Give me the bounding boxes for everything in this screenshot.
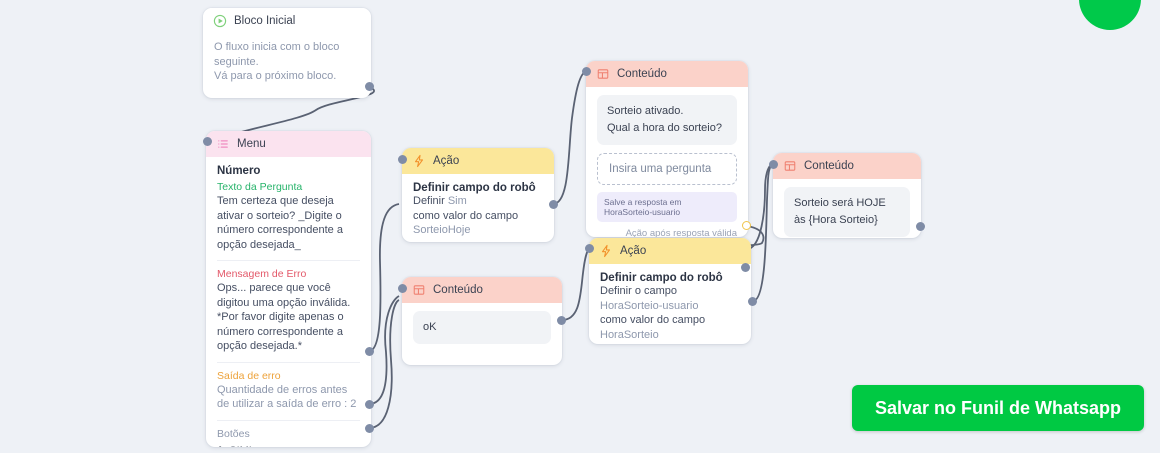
action-line-2: como valor do campo <box>413 209 543 224</box>
node-acao-top[interactable]: Ação Definir campo do robô Definir Sim c… <box>402 148 554 242</box>
layout-icon <box>783 159 797 173</box>
action-line-3-value: HoraSorteio <box>600 328 740 343</box>
node-conteudo-ok[interactable]: Conteúdo oK <box>402 277 562 365</box>
port-acao-bottom-out[interactable] <box>748 297 757 306</box>
action-heading: Definir campo do robô <box>413 182 543 194</box>
node-conteudo-resultado[interactable]: Conteúdo Sorteio será HOJE às {Hora Sort… <box>773 153 921 238</box>
node-title: Conteúdo <box>804 160 854 172</box>
lightning-icon <box>412 154 426 168</box>
port-menu-in[interactable] <box>203 137 212 146</box>
node-header[interactable]: Conteúdo <box>402 277 562 303</box>
node-header[interactable]: Ação <box>589 238 751 264</box>
node-title: Conteúdo <box>617 68 667 80</box>
port-conteudo-resultado-in[interactable] <box>769 160 778 169</box>
layout-icon <box>412 283 426 297</box>
error-text: Ops... parece que você digitou uma opção… <box>217 281 360 354</box>
layout-icon <box>596 67 610 81</box>
start-line-1: O fluxo inicia com o bloco seguinte. <box>214 40 360 69</box>
port-acao-bottom-in[interactable] <box>585 244 594 253</box>
port-conteudo-ok-in[interactable] <box>398 284 407 293</box>
message-bubble: Sorteio ativado. Qual a hora do sorteio? <box>597 95 737 145</box>
node-header[interactable]: Ação <box>402 148 554 174</box>
error-label: Mensagem de Erro <box>217 268 360 280</box>
question-text: Tem certeza que deseja ativar o sorteio?… <box>217 194 360 252</box>
play-circle-icon <box>213 14 227 28</box>
port-conteudo-pergunta-in[interactable] <box>582 67 591 76</box>
menu-list-icon <box>216 137 230 151</box>
question-label: Texto da Pergunta <box>217 181 360 193</box>
port-start-out[interactable] <box>365 82 374 91</box>
option-number: 1. <box>217 445 226 448</box>
flow-canvas[interactable]: Bloco Inicial O fluxo inicia com o bloco… <box>0 0 1160 453</box>
port-valid-answer-out[interactable] <box>742 221 751 230</box>
question-input[interactable]: Insira uma pergunta <box>597 153 737 185</box>
divider <box>217 260 360 261</box>
node-conteudo-pergunta[interactable]: Conteúdo Sorteio ativado. Qual a hora do… <box>586 61 748 237</box>
action-line-1-value: Sim <box>448 195 467 207</box>
node-header[interactable]: Conteúdo <box>773 153 921 179</box>
divider <box>217 362 360 363</box>
action-line-1: Definir o campo HoraSorteio-usuario <box>600 284 740 313</box>
action-line-1-value: HoraSorteio-usuario <box>600 300 698 312</box>
port-acao-bottom-side[interactable] <box>741 263 750 272</box>
node-menu[interactable]: Menu Número Texto da Pergunta Tem certez… <box>206 131 371 447</box>
action-line-1-prefix: Definir o campo <box>600 285 677 297</box>
start-line-2: Vá para o próximo bloco. <box>214 69 360 84</box>
message-bubble: Sorteio será HOJE às {Hora Sorteio} <box>784 187 910 237</box>
message-line-1: Sorteio ativado. <box>607 103 727 120</box>
action-line-1-prefix: Definir <box>413 195 448 207</box>
lightning-icon <box>599 244 613 258</box>
error-exit-text: Quantidade de erros antes de utilizar a … <box>217 383 360 412</box>
node-header[interactable]: Conteúdo <box>586 61 748 87</box>
floating-action-button[interactable] <box>1079 0 1141 30</box>
valid-answer-action-label: Ação após resposta válida <box>597 228 737 237</box>
action-line-3-value: SorteioHoje <box>413 223 543 238</box>
save-funnel-button[interactable]: Salvar no Funil de Whatsapp <box>852 385 1144 431</box>
error-exit-label: Saída de erro <box>217 370 360 382</box>
port-conteudo-resultado-out[interactable] <box>916 222 925 231</box>
divider <box>217 420 360 421</box>
action-line-1: Definir Sim <box>413 194 543 209</box>
buttons-label: Botões <box>217 428 360 440</box>
port-conteudo-ok-out[interactable] <box>557 316 566 325</box>
node-acao-bottom[interactable]: Ação Definir campo do robô Definir o cam… <box>589 238 751 344</box>
node-title: Bloco Inicial <box>234 15 295 27</box>
action-heading: Definir campo do robô <box>600 272 740 284</box>
port-acao-top-in[interactable] <box>398 155 407 164</box>
node-header[interactable]: Bloco Inicial <box>203 8 371 34</box>
port-acao-top-out[interactable] <box>549 200 558 209</box>
option-label: SIM! <box>229 445 252 448</box>
node-title: Conteúdo <box>433 284 483 296</box>
node-title: Ação <box>620 245 646 257</box>
message-bubble: oK <box>413 311 551 344</box>
node-bloco-inicial[interactable]: Bloco Inicial O fluxo inicia com o bloco… <box>203 8 371 98</box>
message-line-2: Qual a hora do sorteio? <box>607 120 727 137</box>
port-menu-option-1-out[interactable] <box>365 400 374 409</box>
save-answer-chip: Salve a resposta em HoraSorteio-usuario <box>597 192 737 222</box>
menu-field-name: Número <box>217 165 360 177</box>
node-title: Menu <box>237 138 266 150</box>
node-title: Ação <box>433 155 459 167</box>
node-header[interactable]: Menu <box>206 131 371 157</box>
menu-button-option[interactable]: 1. SIM! <box>217 442 360 448</box>
port-menu-error-out[interactable] <box>365 347 374 356</box>
port-menu-option-2-out[interactable] <box>365 424 374 433</box>
action-line-2: como valor do campo <box>600 313 740 328</box>
